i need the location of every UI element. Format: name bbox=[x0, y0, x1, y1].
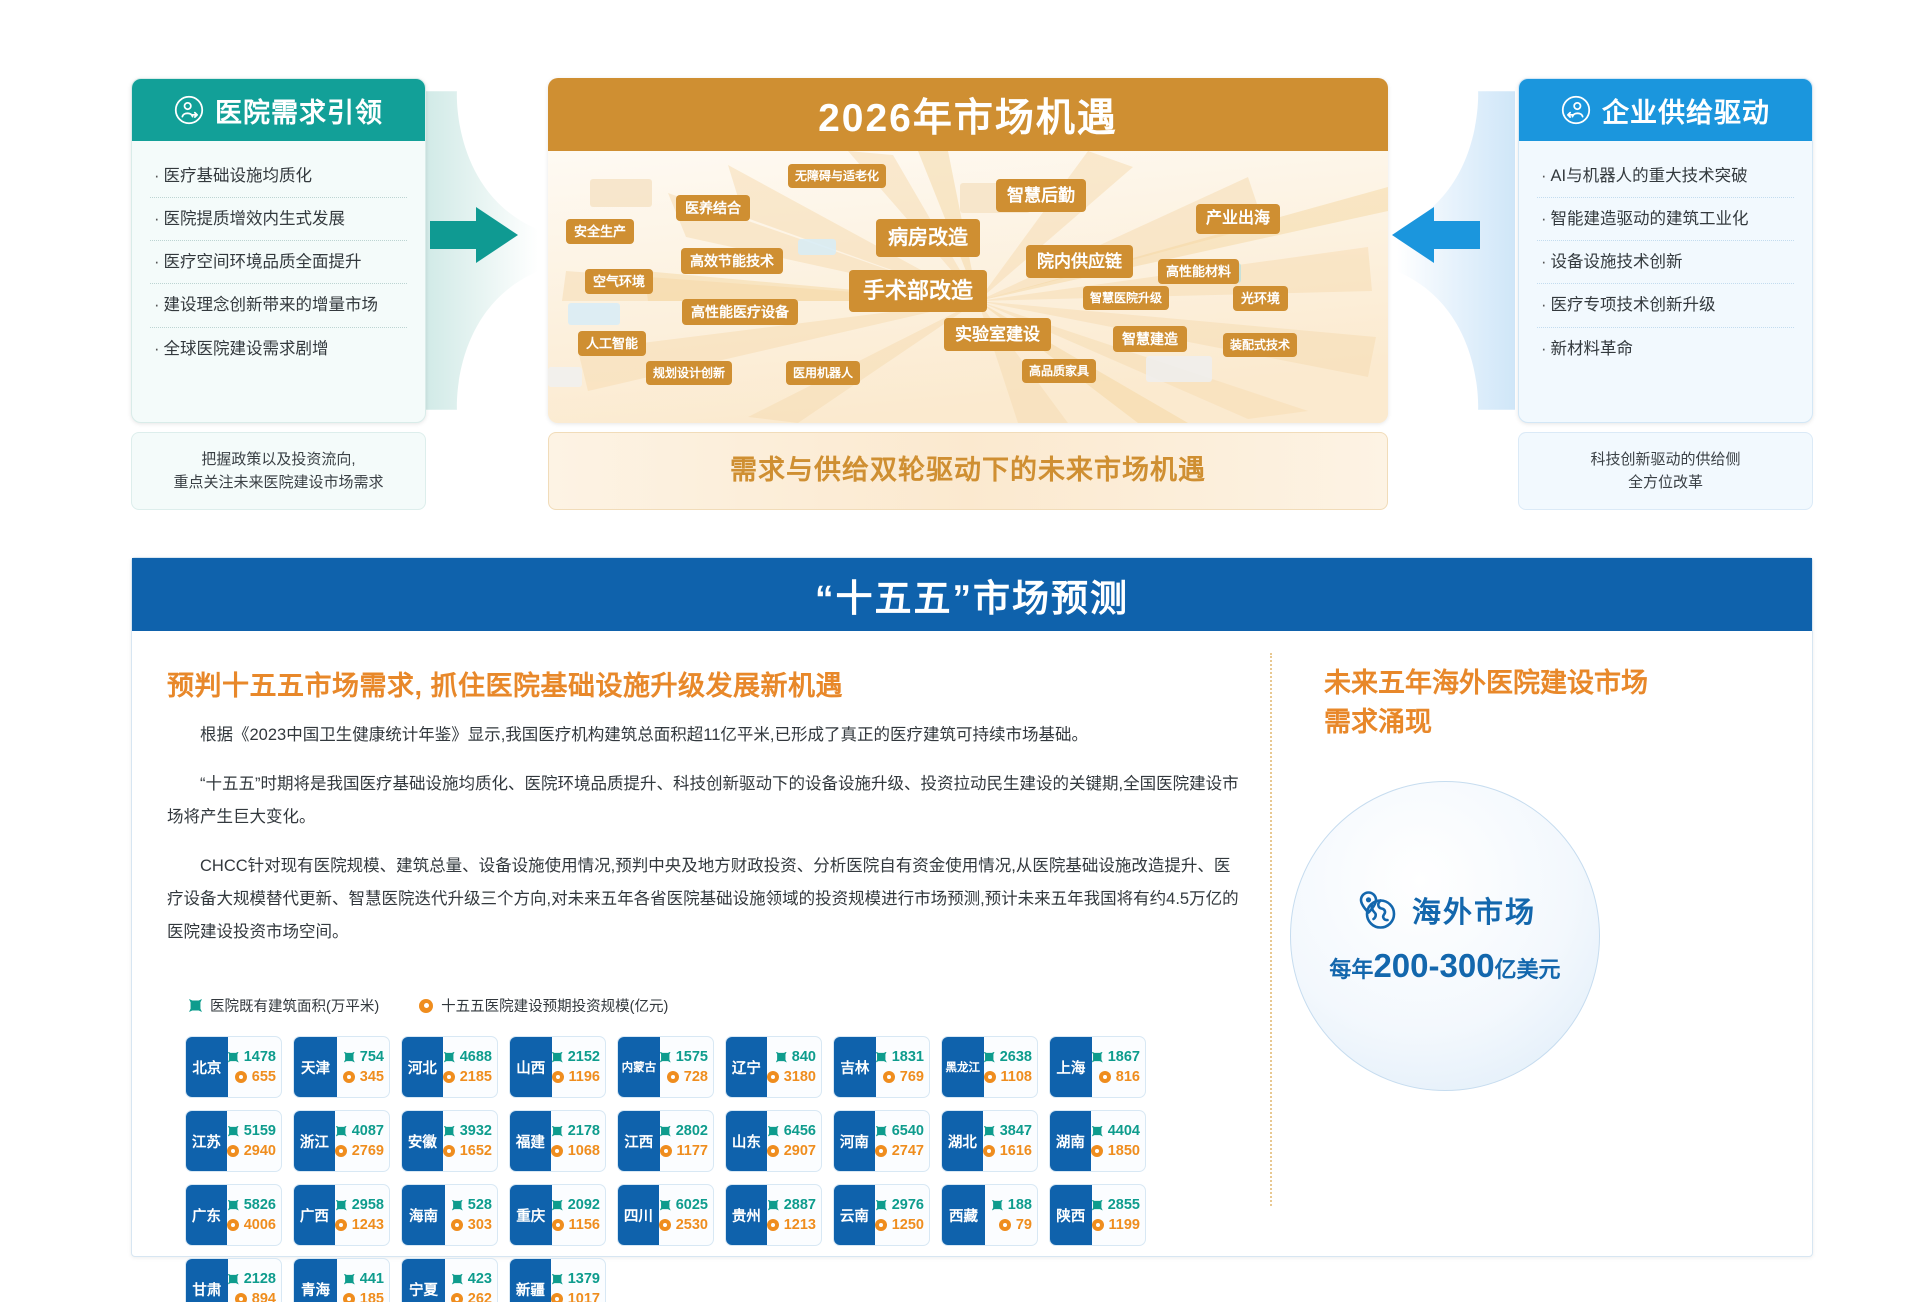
overseas-circle-content: 海外市场 每年200-300亿美元 bbox=[1290, 781, 1600, 1091]
province-values: 60252530 bbox=[659, 1185, 713, 1245]
supply-item-5-label: 新材料革命 bbox=[1551, 340, 1634, 358]
province-area-value: 2178 bbox=[568, 1123, 600, 1139]
opportunity-tag[interactable]: 智慧建造 bbox=[1113, 326, 1187, 352]
province-area-row: 4087 bbox=[335, 1123, 384, 1139]
forecast-left-column: 预判十五五市场需求, 抓住医院基础设施升级发展新机遇 根据《2023中国卫生健康… bbox=[132, 631, 1270, 1256]
opportunity-tag[interactable]: 高性能医疗设备 bbox=[682, 299, 798, 325]
square-marker-icon bbox=[228, 1274, 239, 1285]
opportunity-tag[interactable]: 医养结合 bbox=[676, 195, 750, 221]
province-values: 28551199 bbox=[1092, 1185, 1145, 1245]
market-opportunity-title: 2026年市场机遇 bbox=[818, 87, 1118, 143]
circle-marker-icon bbox=[335, 1219, 347, 1231]
demand-panel-list: ·医疗基础设施均质化 ·医院提质增效内生式发展 ·医疗空间环境品质全面提升 ·建… bbox=[132, 141, 425, 378]
province-name: 宁夏 bbox=[402, 1259, 445, 1302]
province-name: 上海 bbox=[1050, 1037, 1092, 1097]
province-invest-value: 1250 bbox=[892, 1217, 924, 1233]
chart-legend: 医院既有建筑面积(万平米) 十五五医院建设预期投资规模(亿元) bbox=[189, 995, 1240, 1016]
opportunity-tag[interactable]: 无障碍与适老化 bbox=[788, 164, 886, 188]
decor-blob bbox=[590, 179, 652, 207]
opportunity-tag[interactable]: 院内供应链 bbox=[1026, 245, 1133, 278]
supply-item-1[interactable]: ·AI与机器人的重大技术突破 bbox=[1537, 155, 1794, 198]
circle-marker-icon bbox=[552, 1071, 564, 1083]
forecast-right-column: 未来五年海外医院建设市场 需求涌现 bbox=[1272, 631, 1812, 1256]
square-marker-icon bbox=[336, 1200, 347, 1211]
decor-blob bbox=[1146, 356, 1212, 382]
province-name: 安徽 bbox=[402, 1111, 443, 1171]
province-card[interactable]: 广西29581243 bbox=[293, 1184, 390, 1246]
opportunity-tag[interactable]: 智慧后勤 bbox=[996, 179, 1086, 212]
square-marker-icon bbox=[336, 1126, 347, 1137]
province-invest-row: 2907 bbox=[767, 1143, 816, 1159]
opportunity-tag[interactable]: 高效节能技术 bbox=[681, 248, 783, 274]
province-values: 423262 bbox=[445, 1259, 497, 1302]
province-invest-value: 2907 bbox=[784, 1143, 816, 1159]
province-card[interactable]: 湖南44041850 bbox=[1049, 1110, 1146, 1172]
province-invest-row: 2940 bbox=[227, 1143, 276, 1159]
circle-marker-icon bbox=[235, 1293, 247, 1302]
supply-item-4-label: 医疗专项技术创新升级 bbox=[1551, 296, 1716, 314]
province-area-value: 1478 bbox=[244, 1049, 276, 1065]
demand-panel-header: 医院需求引领 bbox=[132, 79, 425, 141]
square-marker-icon bbox=[344, 1274, 355, 1285]
province-name: 黑龙江 bbox=[942, 1037, 984, 1097]
demand-item-1-label: 医疗基础设施均质化 bbox=[164, 167, 313, 185]
demand-item-1[interactable]: ·医疗基础设施均质化 bbox=[150, 155, 407, 198]
province-invest-row: 2185 bbox=[443, 1069, 492, 1085]
circle-marker-icon bbox=[343, 1071, 355, 1083]
province-name: 河南 bbox=[834, 1111, 875, 1171]
legend-item-area: 医院既有建筑面积(万平米) bbox=[189, 995, 379, 1016]
province-invest-row: 1250 bbox=[875, 1217, 924, 1233]
province-area-row: 2128 bbox=[228, 1271, 276, 1287]
supply-caption-line1: 科技创新驱动的供给侧 bbox=[1590, 448, 1740, 471]
province-invest-row: 2769 bbox=[335, 1143, 384, 1159]
square-marker-icon bbox=[876, 1052, 887, 1063]
square-marker-icon bbox=[228, 1200, 239, 1211]
legend-item-invest: 十五五医院建设预期投资规模(亿元) bbox=[419, 995, 668, 1016]
opportunity-tag[interactable]: 高性能材料 bbox=[1158, 259, 1239, 284]
province-values: 528303 bbox=[445, 1185, 497, 1245]
province-values: 39321652 bbox=[443, 1111, 497, 1171]
forecast-section: “十五五”市场预测 预判十五五市场需求, 抓住医院基础设施升级发展新机遇 根据《… bbox=[131, 557, 1813, 1257]
circle-marker-icon bbox=[552, 1219, 564, 1231]
province-name: 江苏 bbox=[186, 1111, 227, 1171]
supply-item-2-label: 智能建造驱动的建筑工业化 bbox=[1551, 210, 1749, 228]
circle-marker-icon bbox=[235, 1071, 247, 1083]
province-card[interactable]: 山东64562907 bbox=[725, 1110, 822, 1172]
square-marker-icon bbox=[992, 1200, 1003, 1211]
province-invest-value: 2940 bbox=[244, 1143, 276, 1159]
square-marker-icon bbox=[228, 1126, 239, 1137]
province-area-row: 2152 bbox=[552, 1049, 600, 1065]
square-marker-icon bbox=[552, 1052, 563, 1063]
square-marker-icon bbox=[552, 1274, 563, 1285]
square-marker-icon bbox=[1092, 1200, 1103, 1211]
province-values: 1478655 bbox=[228, 1037, 281, 1097]
province-values: 441185 bbox=[337, 1259, 389, 1302]
opportunity-tag[interactable]: 规划设计创新 bbox=[646, 361, 732, 385]
forecast-body: 预判十五五市场需求, 抓住医院基础设施升级发展新机遇 根据《2023中国卫生健康… bbox=[132, 631, 1812, 1256]
province-name: 陕西 bbox=[1050, 1185, 1092, 1245]
demand-item-5[interactable]: ·全球医院建设需求剧增 bbox=[150, 328, 407, 370]
province-area-value: 6025 bbox=[676, 1197, 708, 1213]
province-invest-value: 894 bbox=[252, 1291, 276, 1302]
circle-marker-icon bbox=[451, 1293, 463, 1302]
province-values: 754345 bbox=[337, 1037, 389, 1097]
province-card[interactable]: 天津754345 bbox=[293, 1036, 390, 1098]
supply-item-3-label: 设备设施技术创新 bbox=[1551, 253, 1683, 271]
circle-marker-icon bbox=[875, 1145, 887, 1157]
province-area-value: 2887 bbox=[784, 1197, 816, 1213]
circle-marker-icon bbox=[767, 1145, 779, 1157]
province-area-value: 5159 bbox=[244, 1123, 276, 1139]
province-area-value: 2152 bbox=[568, 1049, 600, 1065]
province-name: 贵州 bbox=[726, 1185, 767, 1245]
province-invest-row: 262 bbox=[445, 1291, 492, 1302]
province-area-value: 840 bbox=[792, 1049, 816, 1065]
circle-marker-icon bbox=[227, 1145, 239, 1157]
province-name: 天津 bbox=[294, 1037, 337, 1097]
opportunity-tag[interactable]: 高品质家具 bbox=[1022, 359, 1096, 383]
square-marker-icon bbox=[768, 1126, 779, 1137]
circle-marker-icon bbox=[443, 1145, 455, 1157]
province-area-row: 2802 bbox=[660, 1123, 708, 1139]
province-area-row: 2178 bbox=[551, 1123, 600, 1139]
province-card[interactable]: 重庆20921156 bbox=[509, 1184, 606, 1246]
square-marker-icon bbox=[984, 1052, 995, 1063]
province-card[interactable]: 广东58264006 bbox=[185, 1184, 282, 1246]
square-marker-icon bbox=[552, 1126, 563, 1137]
circle-marker-icon bbox=[767, 1219, 779, 1231]
demand-item-4[interactable]: ·建设理念创新带来的增量市场 bbox=[150, 284, 407, 327]
province-invest-value: 1243 bbox=[352, 1217, 384, 1233]
province-values: 28871213 bbox=[767, 1185, 821, 1245]
province-area-row: 1478 bbox=[228, 1049, 276, 1065]
province-values: 40872769 bbox=[335, 1111, 389, 1171]
demand-panel-title: 医院需求引领 bbox=[215, 91, 383, 130]
province-values: 20921156 bbox=[552, 1185, 605, 1245]
province-values: 13791017 bbox=[551, 1259, 605, 1302]
province-values: 46882185 bbox=[443, 1037, 497, 1097]
province-card[interactable]: 四川60252530 bbox=[617, 1184, 714, 1246]
province-invest-value: 655 bbox=[252, 1069, 276, 1085]
province-card[interactable]: 海南528303 bbox=[401, 1184, 498, 1246]
demand-item-2[interactable]: ·医院提质增效内生式发展 bbox=[150, 198, 407, 241]
opportunity-tag[interactable]: 医用机器人 bbox=[786, 361, 860, 385]
supply-caption-line2: 全方位改革 bbox=[1590, 471, 1740, 494]
overseas-heading-line2: 需求涌现 bbox=[1324, 703, 1812, 742]
demand-item-4-label: 建设理念创新带来的增量市场 bbox=[164, 296, 379, 314]
province-card[interactable]: 西藏18879 bbox=[941, 1184, 1038, 1246]
demand-item-3[interactable]: ·医疗空间环境品质全面提升 bbox=[150, 241, 407, 284]
province-values: 65402747 bbox=[875, 1111, 929, 1171]
province-area-value: 2958 bbox=[352, 1197, 384, 1213]
province-invest-value: 1196 bbox=[569, 1069, 600, 1085]
circle-marker-icon bbox=[443, 1071, 455, 1083]
province-card[interactable]: 福建21781068 bbox=[509, 1110, 606, 1172]
province-invest-row: 3180 bbox=[767, 1069, 816, 1085]
province-card[interactable]: 辽宁8403180 bbox=[725, 1036, 822, 1098]
square-marker-icon bbox=[984, 1126, 995, 1137]
province-values: 58264006 bbox=[227, 1185, 281, 1245]
circle-marker-icon bbox=[1092, 1219, 1104, 1231]
province-area-row: 840 bbox=[767, 1049, 816, 1065]
demand-item-5-label: 全球医院建设需求剧增 bbox=[164, 340, 329, 358]
province-name: 福建 bbox=[510, 1111, 551, 1171]
province-card[interactable]: 上海1867816 bbox=[1049, 1036, 1146, 1098]
opportunity-tag[interactable]: 手术部改造 bbox=[849, 270, 987, 312]
province-invest-row: 79 bbox=[985, 1217, 1032, 1233]
opportunity-tag[interactable]: 光环境 bbox=[1233, 286, 1288, 311]
square-marker-icon bbox=[660, 1052, 671, 1063]
province-area-value: 3932 bbox=[460, 1123, 492, 1139]
globe-pin-icon bbox=[1354, 887, 1400, 933]
province-name: 新疆 bbox=[510, 1259, 551, 1302]
province-invest-row: 655 bbox=[228, 1069, 276, 1085]
province-values: 29761250 bbox=[875, 1185, 929, 1245]
province-area-value: 1831 bbox=[892, 1049, 924, 1065]
province-card[interactable]: 云南29761250 bbox=[833, 1184, 930, 1246]
province-invest-value: 262 bbox=[468, 1291, 492, 1302]
province-area-value: 188 bbox=[1008, 1197, 1032, 1213]
circle-marker-icon bbox=[883, 1071, 895, 1083]
province-invest-row: 1652 bbox=[443, 1143, 492, 1159]
province-area-row: 754 bbox=[337, 1049, 384, 1065]
circle-marker-icon bbox=[659, 1219, 671, 1231]
forecast-title: “十五五”市场预测 bbox=[815, 568, 1129, 622]
demand-caption-line1: 把握政策以及投资流向, bbox=[173, 448, 383, 471]
province-area-value: 2802 bbox=[676, 1123, 708, 1139]
opportunity-tag[interactable]: 安全生产 bbox=[566, 219, 634, 244]
supply-item-1-label: AI与机器人的重大技术突破 bbox=[1551, 167, 1748, 185]
opportunity-tag[interactable]: 产业出海 bbox=[1196, 204, 1280, 234]
province-card[interactable]: 黑龙江26381108 bbox=[941, 1036, 1038, 1098]
legend-label-invest: 十五五医院建设预期投资规模(亿元) bbox=[441, 995, 668, 1016]
circle-marker-icon bbox=[227, 1219, 239, 1231]
province-name: 湖南 bbox=[1050, 1111, 1091, 1171]
legend-label-area: 医院既有建筑面积(万平米) bbox=[210, 995, 379, 1016]
province-name: 吉林 bbox=[834, 1037, 876, 1097]
circle-marker-icon bbox=[660, 1145, 672, 1157]
province-area-value: 2128 bbox=[244, 1271, 276, 1287]
province-card[interactable]: 新疆13791017 bbox=[509, 1258, 606, 1302]
square-marker-icon bbox=[452, 1274, 463, 1285]
province-invest-row: 769 bbox=[876, 1069, 924, 1085]
province-invest-row: 2747 bbox=[875, 1143, 924, 1159]
province-area-row: 441 bbox=[337, 1271, 384, 1287]
square-marker-icon bbox=[660, 1200, 671, 1211]
demand-caption-line2: 重点关注未来医院建设市场需求 bbox=[173, 471, 383, 494]
province-area-row: 1379 bbox=[551, 1271, 600, 1287]
overseas-amount-value: 200-300 bbox=[1373, 947, 1494, 984]
province-area-value: 528 bbox=[468, 1197, 492, 1213]
province-area-row: 4688 bbox=[443, 1049, 492, 1065]
province-area-value: 6540 bbox=[892, 1123, 924, 1139]
opportunity-tag[interactable]: 病房改造 bbox=[876, 219, 980, 257]
circle-marker-icon bbox=[335, 1145, 347, 1157]
decor-blob bbox=[568, 303, 620, 325]
province-card[interactable]: 陕西28551199 bbox=[1049, 1184, 1146, 1246]
province-values: 64562907 bbox=[767, 1111, 821, 1171]
supply-panel-list: ·AI与机器人的重大技术突破 ·智能建造驱动的建筑工业化 ·设备设施技术创新 ·… bbox=[1519, 141, 1812, 378]
province-card-grid: 北京1478655天津754345河北46882185山西21521196内蒙古… bbox=[185, 1036, 1240, 1302]
province-invest-row: 1108 bbox=[984, 1069, 1032, 1085]
province-card[interactable]: 浙江40872769 bbox=[293, 1110, 390, 1172]
province-area-row: 5159 bbox=[227, 1123, 276, 1139]
province-name: 浙江 bbox=[294, 1111, 335, 1171]
province-area-row: 6456 bbox=[767, 1123, 816, 1139]
square-marker-icon bbox=[452, 1200, 463, 1211]
center-caption-text: 需求与供给双轮驱动下的未来市场机遇 bbox=[730, 450, 1206, 492]
person-supply-icon bbox=[1561, 95, 1591, 125]
province-invest-row: 1850 bbox=[1091, 1143, 1140, 1159]
province-name: 内蒙古 bbox=[618, 1037, 660, 1097]
province-card[interactable]: 山西21521196 bbox=[509, 1036, 606, 1098]
square-marker-icon bbox=[768, 1200, 779, 1211]
demand-item-2-label: 医院提质增效内生式发展 bbox=[164, 210, 346, 228]
province-values: 28021177 bbox=[660, 1111, 713, 1171]
province-name: 辽宁 bbox=[726, 1037, 767, 1097]
province-values: 44041850 bbox=[1091, 1111, 1145, 1171]
province-card[interactable]: 江西28021177 bbox=[617, 1110, 714, 1172]
province-area-row: 1831 bbox=[876, 1049, 924, 1065]
province-name: 青海 bbox=[294, 1259, 337, 1302]
province-invest-row: 1243 bbox=[335, 1217, 384, 1233]
square-marker-icon bbox=[228, 1052, 239, 1063]
province-area-value: 2976 bbox=[892, 1197, 924, 1213]
province-card[interactable]: 青海441185 bbox=[293, 1258, 390, 1302]
circle-marker-icon bbox=[767, 1071, 779, 1083]
province-invest-row: 2530 bbox=[659, 1217, 708, 1233]
province-area-row: 1575 bbox=[660, 1049, 708, 1065]
opportunity-tag[interactable]: 装配式技术 bbox=[1223, 333, 1297, 357]
province-name: 河北 bbox=[402, 1037, 443, 1097]
opportunity-tag[interactable]: 实验室建设 bbox=[944, 318, 1051, 351]
circle-marker-icon bbox=[551, 1293, 563, 1302]
province-invest-value: 4006 bbox=[244, 1217, 276, 1233]
province-card[interactable]: 北京1478655 bbox=[185, 1036, 282, 1098]
province-invest-value: 2530 bbox=[676, 1217, 708, 1233]
market-opportunity-header: 2026年市场机遇 bbox=[548, 78, 1388, 151]
province-values: 18879 bbox=[985, 1185, 1037, 1245]
province-card[interactable]: 河南65402747 bbox=[833, 1110, 930, 1172]
province-invest-row: 1017 bbox=[551, 1291, 600, 1302]
province-card[interactable]: 甘肃2128894 bbox=[185, 1258, 282, 1302]
province-area-value: 1575 bbox=[676, 1049, 708, 1065]
province-name: 广西 bbox=[294, 1185, 335, 1245]
forecast-paragraph-1: 根据《2023中国卫生健康统计年鉴》显示,我国医疗机构建筑总面积超11亿平米,已… bbox=[167, 719, 1240, 752]
province-invest-value: 3180 bbox=[784, 1069, 816, 1085]
province-area-row: 1867 bbox=[1092, 1049, 1140, 1065]
province-area-value: 2638 bbox=[1000, 1049, 1032, 1065]
province-invest-value: 728 bbox=[684, 1069, 708, 1085]
province-invest-value: 1652 bbox=[460, 1143, 492, 1159]
province-invest-value: 1850 bbox=[1108, 1143, 1140, 1159]
decor-blob bbox=[548, 367, 582, 387]
province-area-value: 423 bbox=[468, 1271, 492, 1287]
province-values: 51592940 bbox=[227, 1111, 281, 1171]
demand-panel: 医院需求引领 ·医疗基础设施均质化 ·医院提质增效内生式发展 ·医疗空间环境品质… bbox=[131, 78, 426, 423]
arrow-right-icon bbox=[430, 205, 520, 265]
square-marker-icon bbox=[660, 1126, 671, 1137]
province-invest-row: 1177 bbox=[660, 1143, 708, 1159]
supply-panel: 企业供给驱动 ·AI与机器人的重大技术突破 ·智能建造驱动的建筑工业化 ·设备设… bbox=[1518, 78, 1813, 423]
province-name: 四川 bbox=[618, 1185, 659, 1245]
province-name: 广东 bbox=[186, 1185, 227, 1245]
province-card[interactable]: 湖北38471616 bbox=[941, 1110, 1038, 1172]
supply-item-5[interactable]: ·新材料革命 bbox=[1537, 328, 1794, 370]
supply-panel-header: 企业供给驱动 bbox=[1519, 79, 1812, 141]
circle-marker-icon bbox=[343, 1293, 355, 1302]
province-card[interactable]: 内蒙古1575728 bbox=[617, 1036, 714, 1098]
person-demand-icon bbox=[174, 95, 204, 125]
decor-blob bbox=[798, 239, 836, 255]
province-card[interactable]: 贵州28871213 bbox=[725, 1184, 822, 1246]
circle-marker-icon bbox=[451, 1219, 463, 1231]
province-values: 1831769 bbox=[876, 1037, 929, 1097]
province-area-value: 6456 bbox=[784, 1123, 816, 1139]
province-invest-value: 79 bbox=[1016, 1217, 1032, 1233]
province-invest-value: 1156 bbox=[569, 1217, 600, 1233]
province-area-row: 423 bbox=[445, 1271, 492, 1287]
province-invest-value: 1108 bbox=[1001, 1069, 1032, 1085]
opportunity-tag[interactable]: 空气环境 bbox=[585, 269, 653, 294]
infographic-root: 医院需求引领 ·医疗基础设施均质化 ·医院提质增效内生式发展 ·医疗空间环境品质… bbox=[0, 0, 1920, 1302]
province-card[interactable]: 安徽39321652 bbox=[401, 1110, 498, 1172]
province-area-row: 6025 bbox=[659, 1197, 708, 1213]
province-name: 甘肃 bbox=[186, 1259, 228, 1302]
overseas-amount-row: 每年200-300亿美元 bbox=[1329, 947, 1560, 985]
circle-marker-icon bbox=[1099, 1071, 1111, 1083]
province-card[interactable]: 宁夏423262 bbox=[401, 1258, 498, 1302]
province-invest-value: 1616 bbox=[1000, 1143, 1032, 1159]
forecast-header: “十五五”市场预测 bbox=[132, 558, 1812, 631]
province-invest-row: 1068 bbox=[551, 1143, 600, 1159]
province-card[interactable]: 吉林1831769 bbox=[833, 1036, 930, 1098]
circle-marker-icon bbox=[999, 1219, 1011, 1231]
province-invest-value: 1199 bbox=[1109, 1217, 1140, 1233]
province-invest-value: 345 bbox=[360, 1069, 384, 1085]
province-area-row: 2976 bbox=[875, 1197, 924, 1213]
province-card[interactable]: 江苏51592940 bbox=[185, 1110, 282, 1172]
province-area-value: 441 bbox=[360, 1271, 384, 1287]
province-area-value: 4688 bbox=[460, 1049, 492, 1065]
province-area-row: 2638 bbox=[984, 1049, 1032, 1065]
province-values: 26381108 bbox=[984, 1037, 1037, 1097]
supply-item-2[interactable]: ·智能建造驱动的建筑工业化 bbox=[1537, 198, 1794, 241]
supply-item-3[interactable]: ·设备设施技术创新 bbox=[1537, 241, 1794, 284]
province-invest-row: 1213 bbox=[767, 1217, 816, 1233]
province-area-row: 188 bbox=[985, 1197, 1032, 1213]
supply-item-4[interactable]: ·医疗专项技术创新升级 bbox=[1537, 284, 1794, 327]
circle-marker-icon bbox=[551, 1145, 563, 1157]
province-area-row: 2855 bbox=[1092, 1197, 1140, 1213]
province-area-row: 2887 bbox=[767, 1197, 816, 1213]
province-card[interactable]: 河北46882185 bbox=[401, 1036, 498, 1098]
province-invest-row: 185 bbox=[337, 1291, 384, 1302]
province-invest-value: 185 bbox=[360, 1291, 384, 1302]
province-name: 山东 bbox=[726, 1111, 767, 1171]
province-area-row: 5826 bbox=[227, 1197, 276, 1213]
square-marker-icon bbox=[876, 1126, 887, 1137]
opportunity-tag[interactable]: 人工智能 bbox=[578, 331, 646, 356]
square-marker-icon bbox=[444, 1052, 455, 1063]
center-caption: 需求与供给双轮驱动下的未来市场机遇 bbox=[548, 432, 1388, 510]
opportunity-tag[interactable]: 智慧医院升级 bbox=[1083, 286, 1169, 310]
province-name: 海南 bbox=[402, 1185, 445, 1245]
top-section: 医院需求引领 ·医疗基础设施均质化 ·医院提质增效内生式发展 ·医疗空间环境品质… bbox=[0, 0, 1920, 545]
circle-marker-icon bbox=[983, 1145, 995, 1157]
